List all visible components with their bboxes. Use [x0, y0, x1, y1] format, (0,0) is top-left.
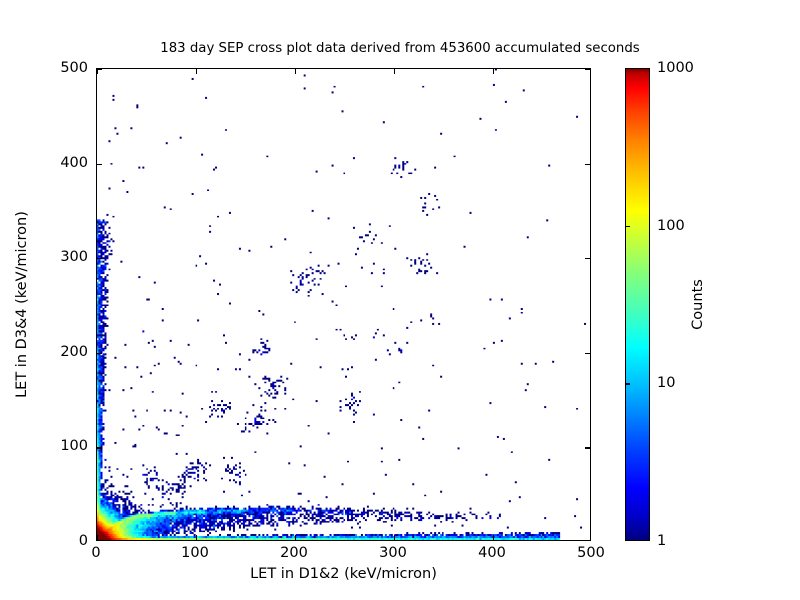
y-tick [97, 353, 102, 354]
x-tick-label: 200 [280, 545, 308, 561]
y-tick [97, 258, 102, 259]
colorbar-tick-label: 100 [657, 218, 685, 234]
scatter-heatmap-canvas [97, 69, 590, 540]
x-tick [394, 535, 395, 540]
y-tick-right [585, 69, 590, 70]
x-tick-top [295, 69, 296, 74]
plot-area [96, 68, 591, 541]
y-tick-right [585, 353, 590, 354]
x-tick-top [196, 69, 197, 74]
y-tick-label: 300 [60, 249, 88, 265]
y-tick-label: 0 [79, 533, 88, 549]
y-tick-right [585, 447, 590, 448]
y-tick-label: 400 [60, 155, 88, 171]
x-tick-label: 100 [181, 545, 209, 561]
x-tick [196, 535, 197, 540]
x-tick [493, 535, 494, 540]
colorbar-tick-label: 1 [657, 533, 666, 549]
colorbar-label: Counts [690, 68, 710, 541]
x-tick-label: 400 [478, 545, 506, 561]
y-tick-label: 500 [60, 60, 88, 76]
y-tick-label: 100 [60, 438, 88, 454]
colorbar-tick [625, 226, 630, 227]
colorbar-tick-label: 10 [657, 375, 675, 391]
x-tick [97, 535, 98, 540]
x-tick-label: 0 [91, 545, 100, 561]
x-tick-label: 500 [577, 545, 605, 561]
y-tick-right [585, 164, 590, 165]
x-tick [295, 535, 296, 540]
colorbar [625, 68, 650, 541]
colorbar-tick [625, 383, 630, 384]
y-tick [97, 69, 102, 70]
y-tick [97, 447, 102, 448]
colorbar-tick-label: 1000 [657, 60, 694, 76]
y-axis-label: LET in D3&4 (keV/micron) [14, 68, 34, 541]
x-tick-label: 300 [379, 545, 407, 561]
chart-title-line-1: 183 day SEP cross plot data derived from… [0, 40, 800, 57]
x-tick-top [394, 69, 395, 74]
y-tick-right [585, 258, 590, 259]
figure-canvas: 183 day SEP cross plot data derived from… [0, 0, 800, 600]
y-tick-label: 200 [60, 344, 88, 360]
x-tick-top [493, 69, 494, 74]
y-tick [97, 164, 102, 165]
x-axis-label: LET in D1&2 (keV/micron) [96, 566, 591, 582]
